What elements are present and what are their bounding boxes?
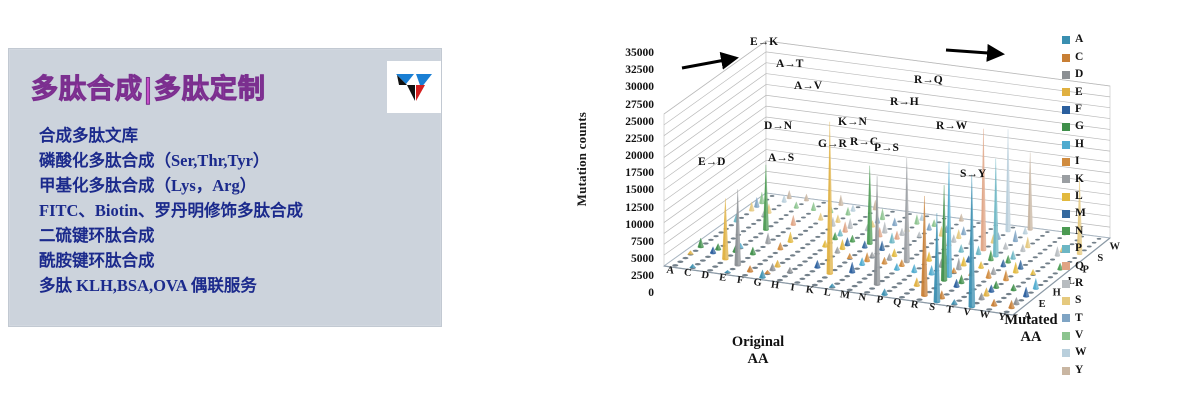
cone-base	[731, 237, 736, 239]
legend-label: L	[1075, 191, 1083, 203]
cone-base	[821, 202, 826, 204]
cone-base	[862, 277, 868, 279]
cone-base	[856, 206, 861, 208]
cone-base	[906, 275, 912, 277]
cone-base	[855, 237, 860, 239]
cone-base	[976, 284, 982, 286]
cone-base	[795, 251, 801, 253]
cone-base	[717, 262, 723, 264]
cone-base	[756, 219, 761, 221]
x-axis-tick-label: A	[666, 265, 675, 277]
legend-label: Q	[1075, 261, 1084, 273]
cone-base	[777, 205, 782, 207]
list-item: 酰胺键环肽合成	[39, 248, 429, 273]
cone-base	[806, 213, 811, 215]
cone-base	[700, 259, 706, 261]
cone-base	[857, 281, 863, 283]
legend-item[interactable]: N	[1062, 223, 1120, 239]
cone-base	[964, 247, 969, 249]
cone-base	[783, 245, 788, 247]
x-axis-tick-label: Q	[892, 297, 902, 309]
company-chevron-logo	[387, 61, 441, 113]
x-axis-tick-label: D	[701, 270, 710, 282]
cone-base	[860, 233, 865, 235]
peak-callout-label: D→N	[764, 120, 792, 132]
cone-base	[1008, 275, 1013, 277]
cone-base	[954, 224, 959, 226]
cone-base	[1045, 231, 1050, 233]
x-axis-tick-label: E	[718, 272, 726, 284]
legend-label: M	[1075, 208, 1086, 220]
cone-base	[858, 220, 863, 222]
peak-callout-label: K→N	[838, 116, 867, 128]
cone-base	[844, 275, 850, 277]
cone-base	[1025, 278, 1030, 280]
peak-callout-label: G→R	[818, 138, 847, 150]
y-tick-label: 15000	[625, 185, 654, 197]
cone-base	[730, 268, 736, 270]
legend-label: A	[1075, 34, 1083, 46]
cone-base	[1030, 243, 1035, 245]
cone-base	[852, 285, 858, 287]
cone-base	[1040, 266, 1045, 268]
cone-base	[804, 274, 810, 276]
trend-arrow-left	[682, 58, 736, 68]
cone-base	[914, 254, 919, 256]
cone-base	[884, 276, 890, 278]
legend-label: I	[1075, 156, 1079, 168]
cone-base	[792, 268, 798, 270]
cone-base	[782, 275, 788, 277]
y-tick-label: 20000	[625, 151, 654, 163]
x-axis-tick-label: T	[945, 304, 953, 316]
legend-label: G	[1075, 121, 1084, 133]
cone-base	[800, 247, 805, 249]
legend-label: P	[1075, 243, 1082, 255]
cone-base	[823, 215, 828, 217]
legend-item[interactable]: Q	[1062, 258, 1120, 274]
cone-base	[1043, 280, 1048, 282]
y-axis-title: Mutation counts	[574, 112, 590, 206]
legend-item[interactable]: P	[1062, 241, 1120, 257]
legend-swatch-icon	[1062, 141, 1070, 149]
legend-label: T	[1075, 313, 1083, 325]
peak-callout-label: R→H	[890, 96, 919, 108]
legend-item[interactable]: F	[1062, 102, 1120, 118]
x-axis-tick-label: F	[736, 275, 744, 287]
cone-base	[937, 221, 942, 223]
chevron-logo-icon	[394, 70, 434, 104]
legend-item[interactable]: G	[1062, 119, 1120, 135]
legend-swatch-icon	[1062, 54, 1070, 62]
cone-base	[852, 254, 857, 256]
cone-base	[910, 227, 915, 229]
cone-base	[833, 208, 838, 210]
legend-swatch-icon	[1062, 88, 1070, 96]
cone-base	[746, 226, 751, 228]
cone-base	[897, 221, 902, 223]
peak-callout-label: A→V	[794, 80, 822, 92]
x-axis-tick-label: C	[683, 267, 692, 279]
legend-item[interactable]: S	[1062, 293, 1120, 309]
cone-base	[772, 208, 777, 210]
cone-base	[869, 287, 875, 289]
y-tick-label: 10000	[625, 220, 654, 232]
legend-item[interactable]: M	[1062, 206, 1120, 222]
cone-base	[774, 221, 779, 223]
cone-base	[1011, 227, 1016, 229]
cone-base	[784, 214, 789, 216]
cone-base	[813, 222, 818, 224]
cone-base	[741, 230, 746, 232]
cone-base	[807, 257, 813, 259]
cone-base	[890, 211, 895, 213]
cone-base	[837, 265, 843, 267]
cone-base	[901, 278, 907, 280]
y-tick-label: 30000	[625, 82, 654, 94]
legend-item[interactable]: T	[1062, 310, 1120, 326]
cone-base	[853, 223, 858, 225]
x-axis-tick-label: M	[839, 289, 850, 301]
cone-base	[789, 211, 794, 213]
cone-base	[809, 270, 815, 272]
cone-base	[892, 286, 898, 288]
cone-base	[887, 290, 893, 292]
legend-item[interactable]: V	[1062, 328, 1120, 344]
cone-base	[786, 227, 791, 229]
x-axis-tick-label: R	[910, 299, 919, 311]
cone-base	[802, 260, 808, 262]
legend-label: D	[1075, 69, 1083, 81]
cone-base	[925, 215, 930, 217]
cone-base	[909, 288, 915, 290]
cone-base	[803, 230, 808, 232]
cone-base	[781, 231, 786, 233]
legend-swatch-icon	[1062, 158, 1070, 166]
cone-base	[909, 257, 914, 259]
cone-base	[772, 252, 778, 254]
y-axis-tick-labels: 3500032500300002750025000225002000017500…	[594, 48, 654, 300]
cone-base	[1008, 244, 1013, 246]
cone-base	[796, 220, 801, 222]
cone-base	[897, 282, 903, 284]
cone-base	[1035, 239, 1040, 241]
list-item: 多肽 KLH,BSA,OVA 偶联服务	[39, 273, 429, 298]
legend-label: K	[1075, 174, 1084, 186]
cone-base	[682, 257, 688, 259]
cone-base	[713, 235, 718, 237]
cone-base	[885, 215, 890, 217]
cone-base	[954, 254, 959, 256]
cone-base	[820, 232, 825, 234]
cone-base	[1015, 254, 1020, 256]
cone-base	[998, 283, 1004, 285]
cone-base	[1045, 262, 1050, 264]
cone-base	[755, 249, 761, 251]
legend-swatch-icon	[1062, 367, 1070, 375]
legend-label: E	[1075, 87, 1083, 99]
cone-base	[751, 223, 756, 225]
cone-base	[949, 289, 955, 291]
cone-base	[966, 230, 971, 232]
legend: ACDEFGHIKLMNPQRSTVWY	[1062, 32, 1120, 379]
cone-base	[1021, 281, 1027, 283]
cone-base	[693, 250, 699, 252]
cone-base	[816, 205, 821, 207]
cone-base	[770, 195, 775, 197]
cone-base	[817, 249, 822, 251]
legend-label: F	[1075, 104, 1082, 116]
peak-callout-label: A→T	[776, 58, 803, 70]
y-tick-label: 17500	[625, 168, 654, 180]
cone-base	[981, 281, 987, 283]
cone-base	[854, 268, 860, 270]
legend-swatch-icon	[1062, 262, 1070, 270]
peak-callout-label: R→Q	[914, 74, 943, 86]
legend-item[interactable]: R	[1062, 275, 1120, 291]
cone-base	[695, 263, 701, 265]
cone-base	[760, 246, 766, 248]
cone-base	[974, 239, 979, 241]
y-tick-label: 35000	[625, 48, 654, 60]
legend-label: H	[1075, 139, 1084, 151]
list-item: 合成多肽文库	[39, 123, 429, 148]
legend-item[interactable]: W	[1062, 345, 1120, 361]
legend-label: C	[1075, 52, 1083, 64]
legend-label: S	[1075, 295, 1081, 307]
cone-base	[964, 278, 970, 280]
cone-base	[712, 265, 718, 267]
cone-base	[797, 264, 803, 266]
cone-base	[822, 276, 828, 278]
cone-base	[780, 262, 786, 264]
cone-base	[988, 228, 993, 230]
cone-base	[1001, 234, 1006, 236]
legend-label: Y	[1075, 365, 1083, 377]
legend-item[interactable]: L	[1062, 189, 1120, 205]
cone-base	[767, 256, 773, 258]
cone-base	[842, 261, 848, 263]
cone-base	[744, 213, 749, 215]
cone-base	[929, 242, 934, 244]
list-item: 二硫键环肽合成	[39, 223, 429, 248]
z-axis-tick-label: H	[1053, 288, 1061, 299]
cone-base	[956, 300, 962, 302]
legend-swatch-icon	[1062, 297, 1070, 305]
y-tick-label: 7500	[631, 237, 654, 249]
legend-label: N	[1075, 226, 1083, 238]
x-axis-tick-label: K	[805, 284, 815, 296]
cone-base	[983, 263, 988, 265]
cone-base	[839, 279, 845, 281]
list-item: 甲基化多肽合成（Lys，Arg）	[39, 173, 429, 198]
cone-base	[1048, 276, 1053, 278]
cone-base	[677, 261, 683, 263]
x-axis-tick-label: G	[753, 277, 763, 289]
cone-base	[904, 292, 910, 294]
promo-panel: 多肽合成|多肽定制 合成多肽文库 磷酸化多肽合成（Ser,Thr,Tyr） 甲基…	[8, 48, 442, 327]
x-axis-tick-label: I	[790, 282, 796, 293]
cone-base	[1006, 293, 1012, 295]
promo-title: 多肽合成|多肽定制	[31, 67, 266, 106]
cone-base	[1052, 241, 1057, 243]
cone-base	[718, 231, 723, 233]
peak-callout-label: P→S	[874, 142, 899, 154]
legend-item[interactable]: Y	[1062, 362, 1120, 378]
x-axis-tick-label: V	[963, 307, 972, 319]
cone-base	[986, 245, 991, 247]
cone-base	[779, 218, 784, 220]
cone-base	[762, 259, 768, 261]
y-tick-label: 2500	[631, 271, 654, 283]
z-axis-tick-label: E	[1039, 299, 1046, 310]
trend-arrow-right	[946, 50, 1002, 54]
y-tick-label: 5000	[631, 254, 654, 266]
legend-item[interactable]: E	[1062, 84, 1120, 100]
cone-base	[863, 216, 868, 218]
cone-base	[799, 203, 804, 205]
cone-base	[812, 253, 818, 255]
cone-base	[1038, 284, 1044, 286]
cone-base	[1018, 236, 1023, 238]
promo-service-list: 合成多肽文库 磷酸化多肽合成（Ser,Thr,Tyr） 甲基化多肽合成（Lys，…	[39, 123, 429, 298]
legend-swatch-icon	[1062, 280, 1070, 288]
legend-item[interactable]: D	[1062, 67, 1120, 83]
list-item: 磷酸化多肽合成（Ser,Thr,Tyr）	[39, 148, 429, 173]
cone-base	[703, 242, 709, 244]
legend-item[interactable]: C	[1062, 49, 1120, 65]
legend-label: V	[1075, 330, 1083, 342]
x-axis-tick-label: S	[928, 302, 935, 314]
list-item: FITC、Biotin、罗丹明修饰多肽合成	[39, 198, 429, 223]
cone-base	[1047, 245, 1052, 247]
peak-callout-label: E→D	[698, 156, 725, 168]
mutation-counts-3d-chart: Mutation counts 350003250030000275002500…	[578, 16, 1192, 388]
cone-base	[1023, 264, 1028, 266]
cone-base	[998, 252, 1003, 254]
cone-base	[884, 245, 889, 247]
legend-swatch-icon	[1062, 123, 1070, 131]
legend-swatch-icon	[1062, 332, 1070, 340]
cone-base	[887, 228, 892, 230]
legend-swatch-icon	[1062, 36, 1070, 44]
legend-label: W	[1075, 347, 1087, 359]
peak-callout-label: S→Y	[960, 168, 986, 180]
x-axis-title: OriginalAA	[698, 334, 818, 368]
y-tick-label: 32500	[625, 65, 654, 77]
legend-swatch-icon	[1062, 210, 1070, 218]
legend-swatch-icon	[1062, 193, 1070, 201]
cone-base	[770, 238, 775, 240]
cone-base	[743, 243, 749, 245]
cone-base	[1040, 235, 1045, 237]
cone-base	[745, 257, 751, 259]
cone-base	[708, 239, 714, 241]
cone-base	[996, 269, 1001, 271]
legend-swatch-icon	[1062, 245, 1070, 253]
plot-area: ACDEFGHIKLMNPQRSTVWYAEHLPSW	[658, 30, 1128, 330]
cone-base	[810, 240, 815, 242]
cone-base	[758, 232, 763, 234]
y-tick-label: 12500	[625, 203, 654, 215]
legend-item[interactable]: A	[1062, 32, 1120, 48]
cone-base	[944, 293, 950, 295]
cone-base	[753, 236, 758, 238]
cone-base	[1053, 272, 1058, 274]
y-tick-label: 22500	[625, 134, 654, 146]
cone-base	[757, 263, 763, 265]
cone-base	[961, 296, 967, 298]
cone-base	[841, 217, 846, 219]
cone-base	[834, 282, 840, 284]
legend-label: R	[1075, 278, 1083, 290]
legend-swatch-icon	[1062, 175, 1070, 183]
cone-base	[729, 224, 734, 226]
legend-swatch-icon	[1062, 227, 1070, 235]
legend-swatch-icon	[1062, 71, 1070, 79]
cone-base	[776, 235, 781, 237]
x-axis-tick-label: N	[858, 292, 867, 304]
cone-base	[1028, 260, 1033, 262]
cone-base	[815, 236, 820, 238]
cone-base	[739, 217, 744, 219]
cone-base	[798, 233, 803, 235]
legend-item[interactable]: H	[1062, 136, 1120, 152]
cone-base	[1035, 270, 1040, 272]
y-tick-label: 27500	[625, 100, 654, 112]
cone-base	[768, 225, 773, 227]
cone-base	[1001, 297, 1007, 299]
cone-base	[808, 226, 813, 228]
cone-base	[1043, 249, 1048, 251]
peak-callout-label: A→S	[768, 152, 794, 164]
cone-base	[1033, 256, 1038, 258]
plot-svg: ACDEFGHIKLMNPQRSTVWYAEHLPSW	[658, 30, 1128, 330]
cone-base	[748, 240, 753, 242]
legend-swatch-icon	[1062, 106, 1070, 114]
cone-base	[1028, 291, 1034, 293]
cone-base	[912, 240, 917, 242]
cone-base	[1018, 299, 1024, 301]
cone-base	[1038, 252, 1043, 254]
cone-base	[1050, 259, 1055, 261]
cone-base	[799, 278, 805, 280]
cone-base	[790, 254, 796, 256]
cone-base	[805, 243, 810, 245]
cone-base	[867, 274, 873, 276]
y-tick-label: 25000	[625, 117, 654, 129]
cone-base	[897, 251, 902, 253]
cone-base	[857, 250, 862, 252]
cone-base	[1016, 285, 1022, 287]
cone-base	[889, 272, 895, 274]
cone-base	[752, 267, 758, 269]
cone-base	[916, 267, 922, 269]
y-tick-label: 0	[648, 288, 654, 300]
legend-swatch-icon	[1062, 314, 1070, 322]
legend-swatch-icon	[1062, 349, 1070, 357]
x-axis-tick-label: H	[770, 279, 780, 291]
cone-base	[817, 280, 823, 282]
cone-base	[801, 216, 806, 218]
legend-item[interactable]: K	[1062, 171, 1120, 187]
cone-base	[820, 263, 826, 265]
peak-callout-label: E→K	[750, 36, 778, 48]
legend-item[interactable]: I	[1062, 154, 1120, 170]
cone-base	[785, 258, 791, 260]
cone-base	[976, 222, 981, 224]
cone-base	[705, 256, 711, 258]
